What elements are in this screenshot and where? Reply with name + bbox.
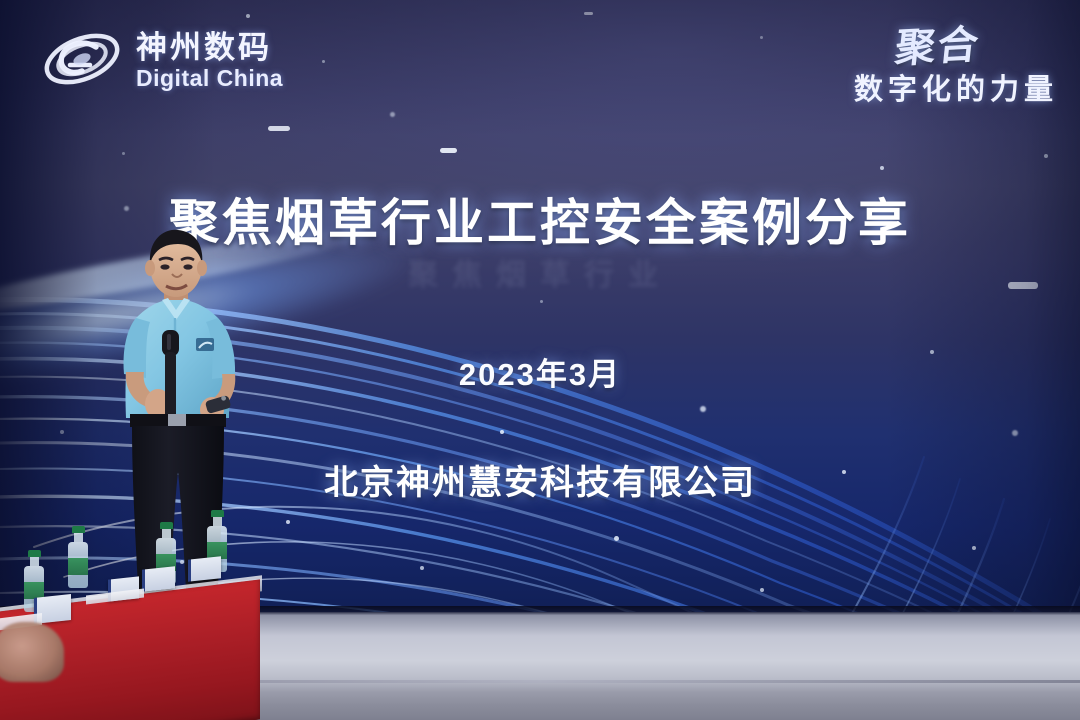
nameplate (188, 556, 221, 581)
water-bottle (68, 526, 88, 588)
brand-text: 神州数码 Digital China (136, 28, 283, 90)
brand-name-cn: 神州数码 (136, 32, 283, 63)
conference-stage-photo: 神州数码 Digital China 聚合 数字化的力量 聚焦烟草行业 聚焦烟草… (0, 0, 1080, 720)
foreground-attendee (0, 622, 64, 682)
slogan-calligraphy: 聚合 (893, 12, 984, 74)
brand-name-en: Digital China (136, 67, 283, 90)
chest-logo-icon (196, 338, 214, 351)
speaker-belt-buckle (168, 414, 186, 427)
brand-logo: 神州数码 Digital China (40, 18, 310, 100)
event-slogan: 聚合 数字化的力量 (796, 14, 1058, 118)
nameplate (142, 566, 175, 591)
galaxy-swirl-icon (40, 24, 124, 94)
